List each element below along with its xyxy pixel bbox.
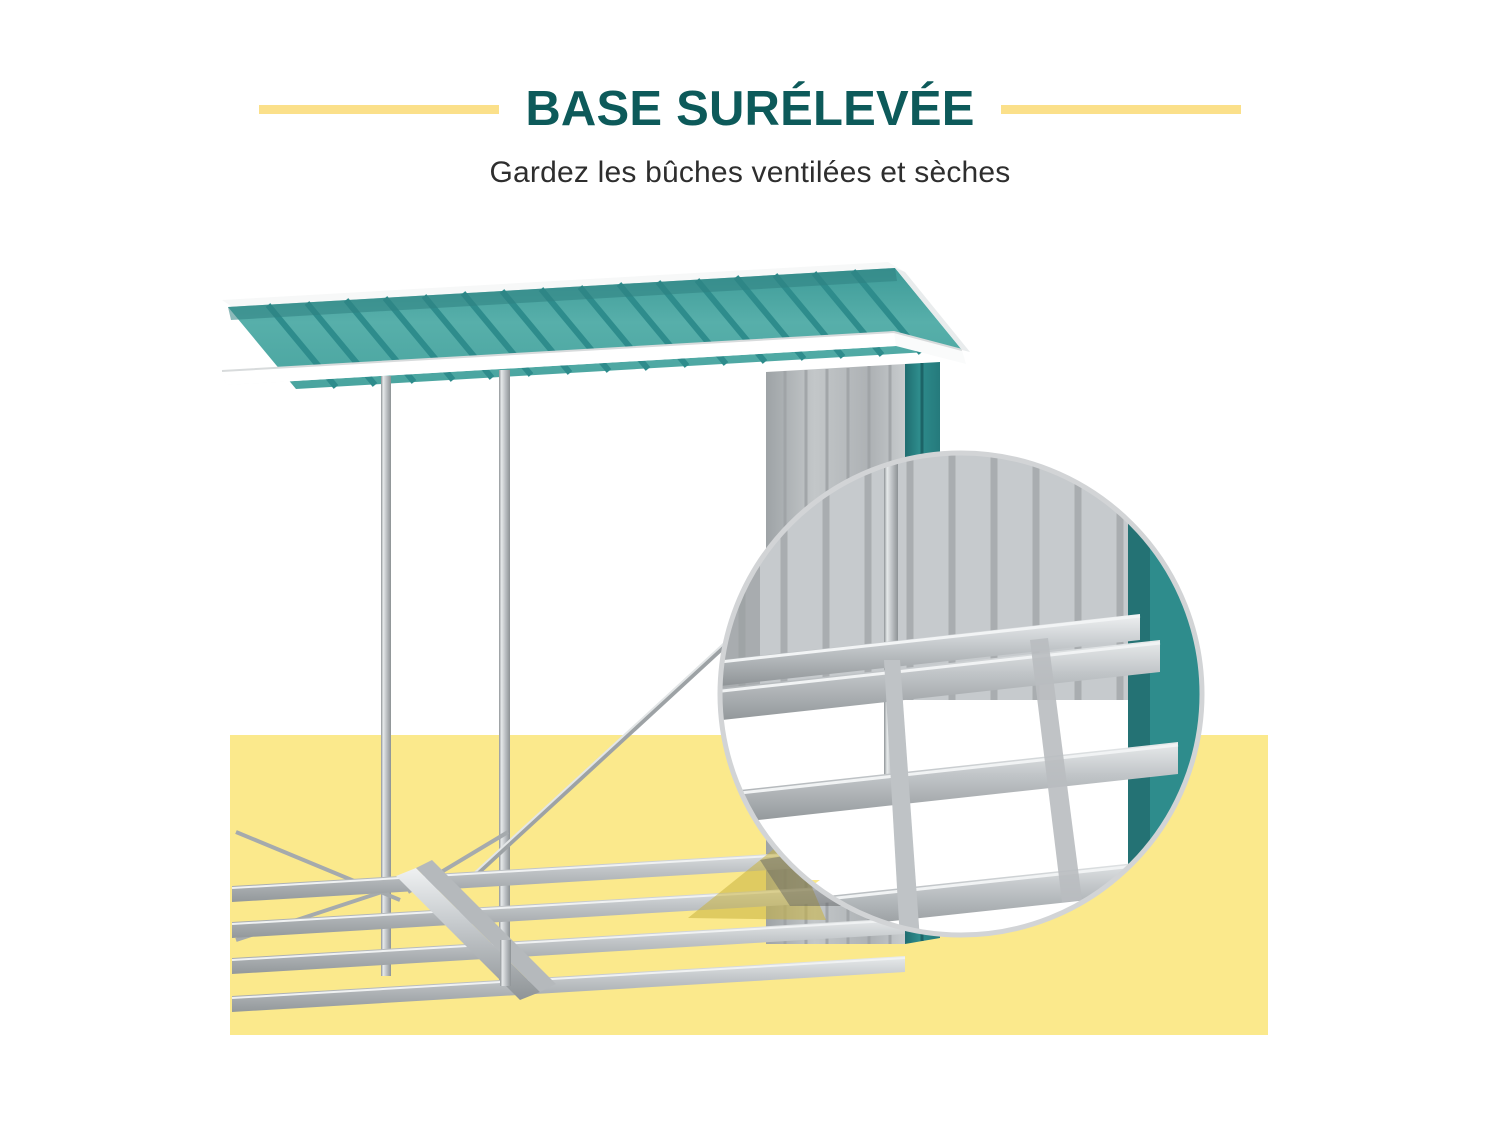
product-feature-card: BASE SURÉLEVÉE Gardez les bûches ventilé… bbox=[0, 0, 1500, 1125]
log-store-shed-3d-render bbox=[0, 0, 1500, 1125]
base-frame-leg bbox=[500, 940, 511, 986]
post-right bbox=[499, 370, 510, 985]
